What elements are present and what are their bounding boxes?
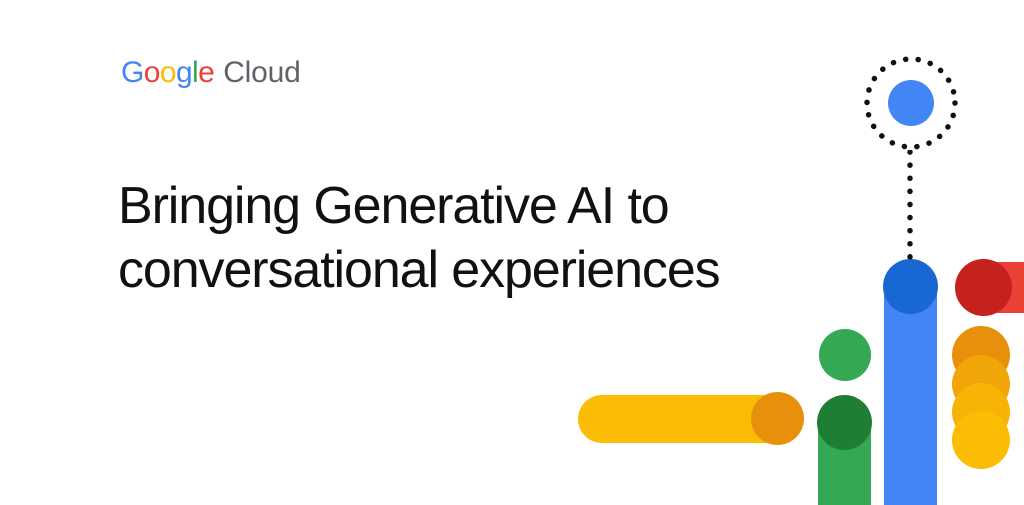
blue-column-cap-circle <box>883 259 938 314</box>
yellow-pill-bar <box>578 395 794 443</box>
orange-stack-circle-3 <box>952 383 1010 441</box>
headline-line-2: conversational experiences <box>118 239 818 303</box>
page-title: Bringing Generative AI to conversational… <box>118 175 818 303</box>
logo-letter-o-yellow: o <box>160 56 176 89</box>
green-column-bar <box>818 398 871 505</box>
yellow-pill-cap-circle <box>751 392 804 445</box>
cloud-wordmark: Cloud <box>223 58 300 88</box>
slide-canvas: Google Cloud Bringing Generative AI to c… <box>0 0 1024 505</box>
red-circle <box>955 259 1012 316</box>
pin-stem-dotted-line <box>907 150 913 266</box>
green-floating-circle <box>819 329 871 381</box>
orange-stack-circle-4 <box>952 411 1010 469</box>
orange-stack-circle-1 <box>952 326 1010 384</box>
pin-dotted-ring-icon <box>864 56 958 150</box>
headline-line-1: Bringing Generative AI to <box>118 175 818 239</box>
google-wordmark: Google <box>121 58 214 88</box>
logo-letter-g-blue2: g <box>176 56 192 89</box>
pin-center-dot <box>888 80 934 126</box>
orange-stack-circle-2 <box>952 355 1010 413</box>
google-cloud-logo[interactable]: Google Cloud <box>121 58 301 88</box>
green-column-cap-circle <box>817 395 872 450</box>
blue-column-bar <box>884 262 937 505</box>
red-bar <box>981 262 1024 313</box>
logo-letter-o-red: o <box>144 56 160 89</box>
logo-letter-e-red: e <box>198 56 214 89</box>
logo-letter-g-blue: G <box>121 56 144 89</box>
